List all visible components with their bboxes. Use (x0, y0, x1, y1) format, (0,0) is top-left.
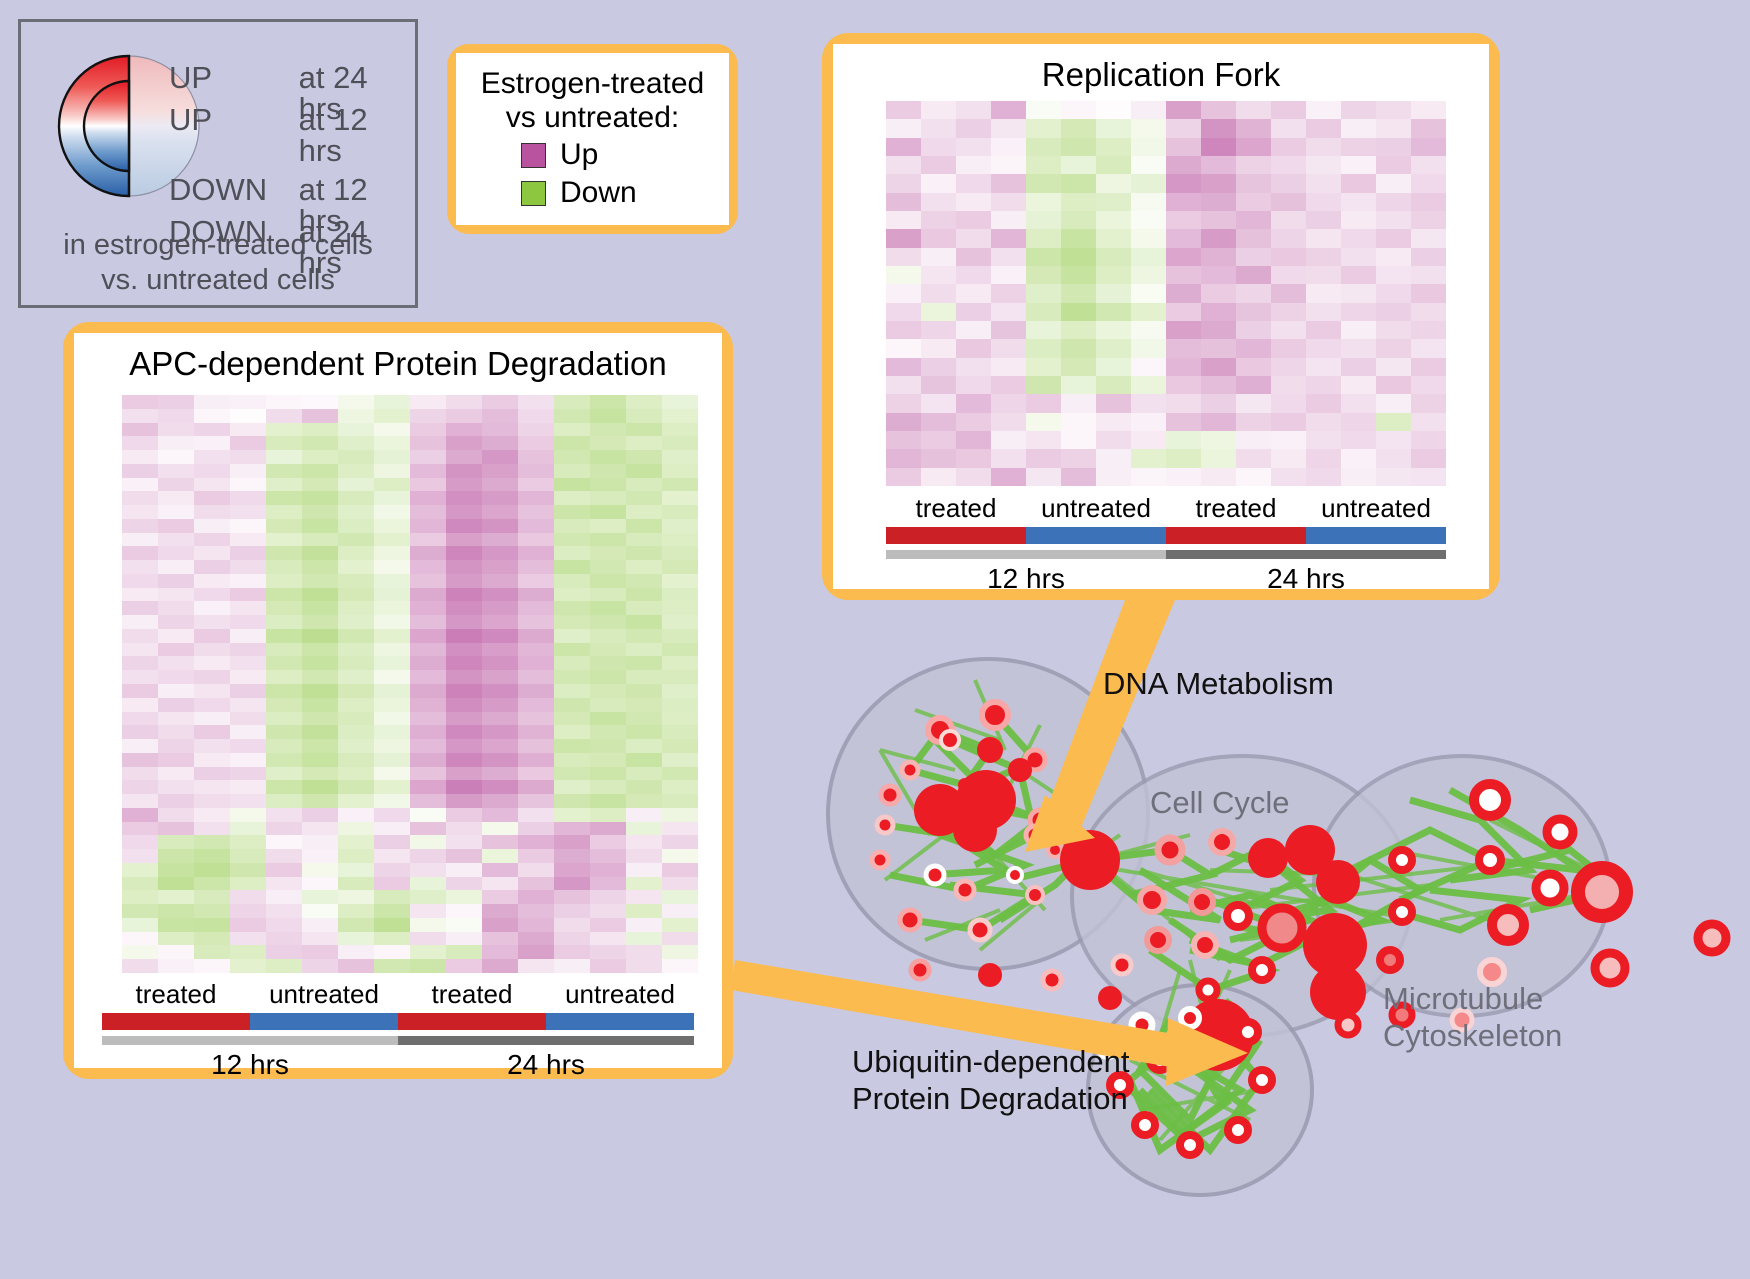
heatmap-cell (1306, 321, 1341, 339)
heatmap-cell (1166, 431, 1201, 449)
heatmap-cell (518, 904, 554, 918)
heatmap-cell (1026, 394, 1061, 412)
heatmap-cell (554, 808, 590, 822)
label-microtubule-cytoskeleton: Microtubule Cytoskeleton (1383, 980, 1562, 1054)
heatmap-cell (194, 698, 230, 712)
heatmap-cell (122, 945, 158, 959)
heatmap-cell (991, 248, 1026, 266)
heatmap-cell (1166, 321, 1201, 339)
heatmap-cell (446, 615, 482, 629)
heatmap-cell (1061, 101, 1096, 119)
heatmap-cell (554, 863, 590, 877)
heatmap-cell (590, 767, 626, 781)
heatmap-cell (554, 423, 590, 437)
heatmap-cell (122, 588, 158, 602)
heatmap-cell (590, 849, 626, 863)
heatmap-cell (230, 409, 266, 423)
heatmap-cell (518, 918, 554, 932)
heatmap-cell (338, 395, 374, 409)
heatmap-cell (956, 303, 991, 321)
heatmap-cell (122, 712, 158, 726)
heatmap-cell (374, 546, 410, 560)
heatmap-cell (446, 835, 482, 849)
heatmap-cell (1201, 193, 1236, 211)
heatmap-cell (1341, 266, 1376, 284)
heatmap-cell (158, 409, 194, 423)
heatmap-cell (374, 505, 410, 519)
heatmap-cell (482, 822, 518, 836)
legend-item-up: Up (466, 138, 719, 172)
bar-treated-12 (102, 1013, 250, 1030)
heatmap-cell (626, 753, 662, 767)
heatmap-cell (662, 932, 698, 946)
heatmap-cell (122, 877, 158, 891)
heatmap-cell (230, 959, 266, 973)
heatmap-cell (1236, 303, 1271, 321)
heatmap-cell (1411, 156, 1446, 174)
heatmap-cell (338, 656, 374, 670)
heatmap-cell (662, 904, 698, 918)
heatmap-cell (1096, 339, 1131, 357)
panel-replication-fork: Replication Fork treated untreated treat… (822, 33, 1500, 600)
heatmap-cell (921, 431, 956, 449)
heatmap-cell (991, 138, 1026, 156)
heatmap-cell (1166, 303, 1201, 321)
heatmap-cell (410, 780, 446, 794)
heatmap-cell (921, 229, 956, 247)
heatmap-cell (554, 753, 590, 767)
heatmap-cell (626, 629, 662, 643)
heatmap-cell (446, 423, 482, 437)
heatmap-cell (446, 478, 482, 492)
heatmap-cell (626, 780, 662, 794)
heatmap-cell (266, 395, 302, 409)
heatmap-cell (956, 376, 991, 394)
heatmap-cell (554, 560, 590, 574)
heatmap-cell (158, 932, 194, 946)
heatmap-cell (230, 546, 266, 560)
heatmap-cell (1341, 119, 1376, 137)
heatmap-cell (956, 211, 991, 229)
heatmap-cell (410, 959, 446, 973)
heatmap-cell (1026, 449, 1061, 467)
heatmap-cell (410, 395, 446, 409)
heatmap-cell (626, 436, 662, 450)
heatmap-cell (194, 519, 230, 533)
heatmap-cell (1306, 413, 1341, 431)
heatmap-cell (662, 725, 698, 739)
heatmap-cell (1376, 174, 1411, 192)
heatmap-cell (482, 629, 518, 643)
heatmap-cell (230, 684, 266, 698)
heatmap-cell (266, 588, 302, 602)
heatmap-cell (482, 767, 518, 781)
heatmap-cell (194, 643, 230, 657)
heatmap-cell (518, 491, 554, 505)
heatmap-cell (554, 629, 590, 643)
heatmap-cell (446, 767, 482, 781)
heatmap-cell (158, 519, 194, 533)
heatmap-cell (194, 904, 230, 918)
heatmap-cell (410, 822, 446, 836)
heatmap-cell (338, 491, 374, 505)
heatmap-cell (1236, 431, 1271, 449)
heatmap-cell (302, 409, 338, 423)
heatmap-cell (1306, 376, 1341, 394)
heatmap-cell (956, 413, 991, 431)
heatmap-cell (374, 822, 410, 836)
heatmap-cell (554, 959, 590, 973)
heatmap-cell (374, 863, 410, 877)
heatmap-cell (991, 284, 1026, 302)
heatmap-cell (158, 849, 194, 863)
heatmap-cell (1026, 174, 1061, 192)
heatmap-cell (590, 574, 626, 588)
heatmap-cell (446, 822, 482, 836)
heatmap-cell (956, 321, 991, 339)
heatmap-cell (302, 560, 338, 574)
heatmap-cell (338, 932, 374, 946)
heatmap-cell (1271, 284, 1306, 302)
heatmap-cell (1131, 431, 1166, 449)
heatmap-cell (590, 835, 626, 849)
heatmap-cell (338, 767, 374, 781)
heatmap-cell (266, 601, 302, 615)
heatmap-cell (122, 601, 158, 615)
heatmap-cell (1166, 284, 1201, 302)
heatmap-cell (194, 423, 230, 437)
heatmap-cell (554, 739, 590, 753)
heatmap-cell (1026, 193, 1061, 211)
axis-time-bar (886, 550, 1446, 559)
heatmap-cell (158, 904, 194, 918)
heatmap-cell (410, 849, 446, 863)
heatmap-cell (554, 904, 590, 918)
heatmap-cell (554, 588, 590, 602)
heatmap-cell (122, 436, 158, 450)
heatmap-cell (921, 468, 956, 486)
heatmap-cell (1166, 229, 1201, 247)
heatmap-cell (1166, 266, 1201, 284)
heatmap-cell (518, 808, 554, 822)
heatmap-cell (1341, 468, 1376, 486)
heatmap-cell (662, 546, 698, 560)
heatmap-cell (230, 767, 266, 781)
heatmap-cell (302, 822, 338, 836)
heatmap-cell (518, 794, 554, 808)
heatmap-cell (590, 808, 626, 822)
heatmap-cell (1026, 101, 1061, 119)
heatmap-cell (194, 670, 230, 684)
axis-time-bar (102, 1036, 694, 1045)
heatmap-cell (338, 794, 374, 808)
heatmap-cell (338, 780, 374, 794)
heatmap-cell (1411, 284, 1446, 302)
heatmap-cell (158, 863, 194, 877)
bar-treated-12 (886, 527, 1026, 544)
heatmap-cell (194, 945, 230, 959)
heatmap-cell (122, 505, 158, 519)
heatmap-cell (590, 478, 626, 492)
heatmap-cell (482, 478, 518, 492)
heatmap-cell (446, 918, 482, 932)
heatmap-cell (158, 739, 194, 753)
heatmap-cell (266, 546, 302, 560)
heatmap-cell (1411, 358, 1446, 376)
down-label: Down (560, 176, 664, 210)
heatmap-cell (626, 395, 662, 409)
heatmap-cell (518, 656, 554, 670)
heatmap-cell (518, 464, 554, 478)
heatmap-cell (626, 959, 662, 973)
heatmap-cell (374, 560, 410, 574)
heatmap-cell (374, 890, 410, 904)
heatmap-cell (590, 698, 626, 712)
heatmap-cell (302, 505, 338, 519)
heatmap-cell (1306, 211, 1341, 229)
heatmap-cell (518, 753, 554, 767)
heatmap-cell (1026, 321, 1061, 339)
heatmap-cell (1096, 376, 1131, 394)
heatmap-cell (1271, 229, 1306, 247)
heatmap-cell (230, 656, 266, 670)
heatmap-cell (1201, 376, 1236, 394)
heatmap-cell (1236, 284, 1271, 302)
heatmap-cell (194, 615, 230, 629)
heatmap-cell (338, 533, 374, 547)
axis-group-names: treated untreated treated untreated (886, 493, 1446, 524)
heatmap-cell (194, 601, 230, 615)
heatmap-cell (302, 835, 338, 849)
heatmap-cell (158, 822, 194, 836)
heatmap-cell (302, 395, 338, 409)
heatmap-cell (554, 684, 590, 698)
bar-untreated-12 (250, 1013, 398, 1030)
heatmap-cell (554, 835, 590, 849)
heatmap-cell (1131, 358, 1166, 376)
heatmap-cell (194, 656, 230, 670)
heatmap-cell (590, 684, 626, 698)
heatmap-cell (1411, 174, 1446, 192)
heatmap-cell (554, 533, 590, 547)
heatmap-cell (662, 464, 698, 478)
heatmap-cell (991, 101, 1026, 119)
heatmap-cell (1201, 266, 1236, 284)
heatmap-cell (410, 436, 446, 450)
heatmap-cell (518, 767, 554, 781)
heatmap-cell (266, 615, 302, 629)
heatmap-cell (410, 643, 446, 657)
heatmap-cell (446, 863, 482, 877)
heatmap-cell (1131, 413, 1166, 431)
heatmap-cell (374, 533, 410, 547)
heatmap-cell (482, 505, 518, 519)
heatmap-cell (921, 394, 956, 412)
heatmap-cell (1201, 394, 1236, 412)
heatmap-cell (1096, 174, 1131, 192)
heatmap-cell (1166, 211, 1201, 229)
heatmap-cell (122, 932, 158, 946)
heatmap-cell (194, 959, 230, 973)
heatmap-cell (1376, 376, 1411, 394)
heatmap-cell (1411, 266, 1446, 284)
heatmap-cell (1376, 138, 1411, 156)
heatmap-cell (446, 794, 482, 808)
heatmap-cell (122, 890, 158, 904)
heatmap-cell (158, 959, 194, 973)
heatmap-cell (446, 890, 482, 904)
key-row-up-12: UP at 12 hrs (169, 104, 419, 166)
heatmap-cell (230, 601, 266, 615)
heatmap-cell (194, 918, 230, 932)
heatmap-cell (518, 423, 554, 437)
heatmap-cell (158, 601, 194, 615)
heatmap-cell (590, 780, 626, 794)
heatmap-cell (518, 409, 554, 423)
heatmap-cell (122, 863, 158, 877)
heatmap-cell (590, 725, 626, 739)
heatmap-cell (1201, 358, 1236, 376)
heatmap-cell (266, 822, 302, 836)
heatmap-cell (1411, 376, 1446, 394)
heatmap-cell (1166, 119, 1201, 137)
heatmap-cell (886, 339, 921, 357)
heatmap-cell (230, 395, 266, 409)
heatmap-cell (956, 174, 991, 192)
heatmap-cell (158, 588, 194, 602)
axis-time-names: 12 hrs 24 hrs (102, 1049, 694, 1081)
heatmap-cell (158, 505, 194, 519)
heatmap-cell (410, 753, 446, 767)
heatmap-cell (410, 450, 446, 464)
heatmap-cell (266, 904, 302, 918)
heatmap-cell (886, 358, 921, 376)
heatmap-cell (518, 739, 554, 753)
heatmap-cell (446, 436, 482, 450)
heatmap-cell (1271, 394, 1306, 412)
heatmap-cell (338, 450, 374, 464)
heatmap-cell (374, 904, 410, 918)
heatmap-cell (518, 712, 554, 726)
heatmap-cell (194, 725, 230, 739)
heatmap-cell (518, 725, 554, 739)
heatmap-cell (1236, 156, 1271, 174)
heatmap-cell (1306, 174, 1341, 192)
heatmap-cell (1026, 138, 1061, 156)
heatmap-cell (886, 394, 921, 412)
heatmap-cell (302, 491, 338, 505)
heatmap-cell (374, 739, 410, 753)
heatmap-cell (194, 863, 230, 877)
heatmap-cell (1341, 193, 1376, 211)
heatmap-cell (1306, 101, 1341, 119)
heatmap-cell (482, 464, 518, 478)
heatmap-cell (1026, 413, 1061, 431)
heatmap-cell (446, 491, 482, 505)
heatmap-cell (956, 431, 991, 449)
heatmap-cell (158, 464, 194, 478)
heatmap-cell (1166, 101, 1201, 119)
heatmap-cell (194, 877, 230, 891)
heatmap-cell (518, 395, 554, 409)
heatmap-cell (626, 450, 662, 464)
heatmap-cell (662, 780, 698, 794)
heatmap-cell (338, 698, 374, 712)
heatmap-cell (1271, 321, 1306, 339)
heatmap-cell (410, 918, 446, 932)
heatmap-cell (886, 174, 921, 192)
heatmap-cell (1341, 138, 1376, 156)
heatmap-cell (338, 712, 374, 726)
heatmap-cell (1411, 431, 1446, 449)
heatmap-cell (590, 533, 626, 547)
heatmap-cell (122, 643, 158, 657)
heatmap-cell (1131, 376, 1166, 394)
heatmap-cell (1376, 266, 1411, 284)
heatmap-cell (1026, 211, 1061, 229)
heatmap-cell (554, 725, 590, 739)
heatmap-cell (991, 339, 1026, 357)
heatmap-cell (446, 670, 482, 684)
heatmap-cell (410, 601, 446, 615)
heatmap-cell (1376, 211, 1411, 229)
heatmap-cell (194, 478, 230, 492)
heatmap-cell (554, 464, 590, 478)
heatmap-cell (1061, 266, 1096, 284)
heatmap-cell (194, 491, 230, 505)
heatmap-cell (590, 794, 626, 808)
heatmap-cell (1096, 248, 1131, 266)
heatmap-cell (662, 409, 698, 423)
heatmap-cell (446, 725, 482, 739)
heatmap-cell (1096, 211, 1131, 229)
heatmap-cell (590, 588, 626, 602)
heatmap-cell (446, 684, 482, 698)
heatmap-cell (158, 423, 194, 437)
heatmap-cell (1306, 266, 1341, 284)
heatmap-cell (554, 794, 590, 808)
heatmap-cell (1201, 303, 1236, 321)
heatmap-cell (338, 519, 374, 533)
heatmap-cell (1306, 339, 1341, 357)
heatmap-cell (446, 877, 482, 891)
heatmap-cell (662, 574, 698, 588)
heatmap-cell (991, 468, 1026, 486)
heatmap-cell (158, 643, 194, 657)
heatmap-cell (886, 248, 921, 266)
heatmap-cell (446, 546, 482, 560)
heatmap-cell (338, 588, 374, 602)
heatmap-cell (338, 849, 374, 863)
heatmap-cell (302, 698, 338, 712)
heatmap-cell (1376, 229, 1411, 247)
heatmap-cell (1061, 284, 1096, 302)
heatmap-cell (302, 863, 338, 877)
heatmap-cell (158, 753, 194, 767)
heatmap-cell (1306, 468, 1341, 486)
heatmap-cell (122, 574, 158, 588)
heatmap-cell (122, 739, 158, 753)
heatmap-cell (1166, 358, 1201, 376)
heatmap-cell (338, 725, 374, 739)
heatmap-cell (1411, 413, 1446, 431)
heatmap-cell (194, 409, 230, 423)
heatmap-cell (662, 890, 698, 904)
heatmap-cell (302, 450, 338, 464)
heatmap-cell (626, 767, 662, 781)
heatmap-cell (1271, 174, 1306, 192)
heatmap-cell (374, 932, 410, 946)
